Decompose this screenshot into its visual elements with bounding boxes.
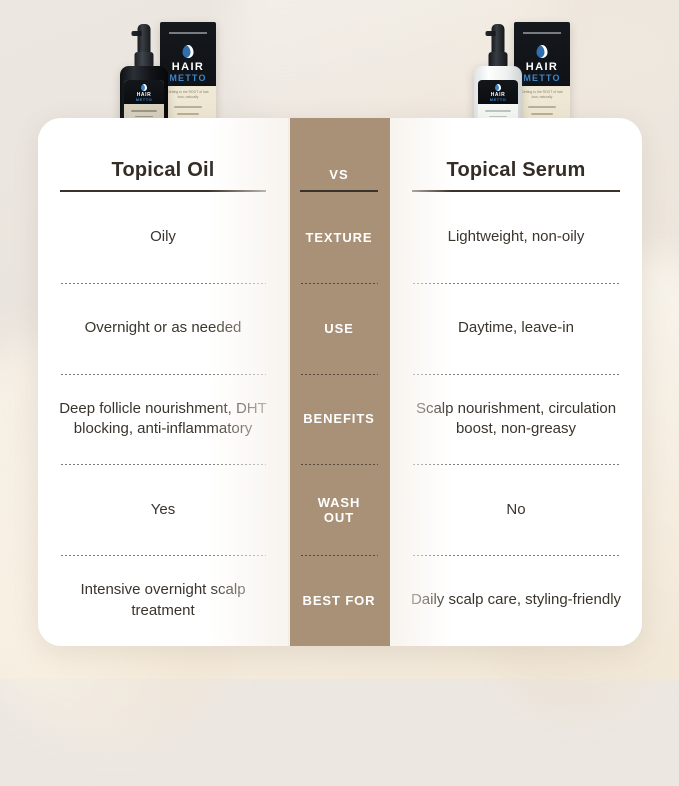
cell-right-1: Daytime, leave-in [458,318,574,338]
table-row: Deep follicle nourishment, DHT blocking,… [38,374,288,465]
brand-droplet-icon [141,84,147,91]
row-label-0: TEXTURE [306,230,373,245]
table-row: Intensive overnight scalp treatment [38,555,288,646]
table-row: Oily [38,192,288,283]
brand-droplet-icon [495,84,501,91]
cell-left-1: Overnight or as needed [85,318,242,338]
table-row: TEXTURE [288,192,390,283]
cell-right-4: Daily scalp care, styling-friendly [411,590,621,610]
row-separator [60,283,266,284]
row-separator [60,555,266,556]
cell-left-0: Oily [150,227,176,247]
vs-label: VS [329,167,349,182]
page-title-right: Topical Serum [447,159,586,182]
comparison-grid: Topical Oil VS Topical Serum Oily TEXTUR… [38,118,642,646]
bottle-cap-icon-right [492,24,505,54]
row-separator [60,464,266,465]
cell-left-4: Intensive overnight scalp treatment [52,580,274,621]
row-separator [300,374,378,375]
bottle-label-header-right: HAIR METTO [478,80,518,104]
table-row: Daily scalp care, styling-friendly [390,555,642,646]
row-separator [300,464,378,465]
column-header-right: Topical Serum [390,118,642,192]
row-separator [300,555,378,556]
box-subtitle-left: Getting to the ROOT of hair loss, natura… [167,90,209,100]
cell-left-3: Yes [151,500,175,520]
brand-droplet-icon [183,45,194,58]
row-separator [60,374,266,375]
table-row: BEST FOR [288,555,390,646]
bottle-label-header-left: HAIR METTO [124,80,164,104]
bottle-brand-line-2-right: METTO [478,97,518,102]
cell-right-0: Lightweight, non-oily [448,227,585,247]
table-row: USE [288,283,390,374]
row-separator [412,555,620,556]
cell-right-2: Scalp nourishment, circulation boost, no… [404,399,628,440]
row-label-3: WASH OUT [302,495,376,525]
table-row: BENEFITS [288,374,390,465]
cell-left-2: Deep follicle nourishment, DHT blocking,… [52,399,274,440]
table-row: Daytime, leave-in [390,283,642,374]
comparison-infographic: HAIR METTO Getting to the ROOT of hair l… [0,0,679,679]
row-label-4: BEST FOR [303,593,376,608]
table-row: Yes [38,464,288,555]
column-header-center: VS [288,118,390,192]
row-separator [412,464,620,465]
bottle-cap-icon-left [138,24,151,54]
row-separator [300,283,378,284]
box-top-rule-right [523,32,561,34]
table-row: Overnight or as needed [38,283,288,374]
row-separator [412,283,620,284]
row-label-1: USE [324,321,353,336]
table-row: Lightweight, non-oily [390,192,642,283]
comparison-table-card: Topical Oil VS Topical Serum Oily TEXTUR… [38,118,642,646]
row-separator [412,374,620,375]
column-header-left: Topical Oil [38,118,288,192]
row-label-2: BENEFITS [303,411,374,426]
bottle-brand-line-2-left: METTO [124,97,164,102]
box-subtitle-right: Getting to the ROOT of hair loss, natura… [521,90,563,100]
page-title-left: Topical Oil [112,159,215,182]
table-row: No [390,464,642,555]
brand-droplet-icon [537,45,548,58]
table-row: WASH OUT [288,464,390,555]
box-top-rule-left [169,32,207,34]
cell-right-3: No [506,500,525,520]
table-row: Scalp nourishment, circulation boost, no… [390,374,642,465]
